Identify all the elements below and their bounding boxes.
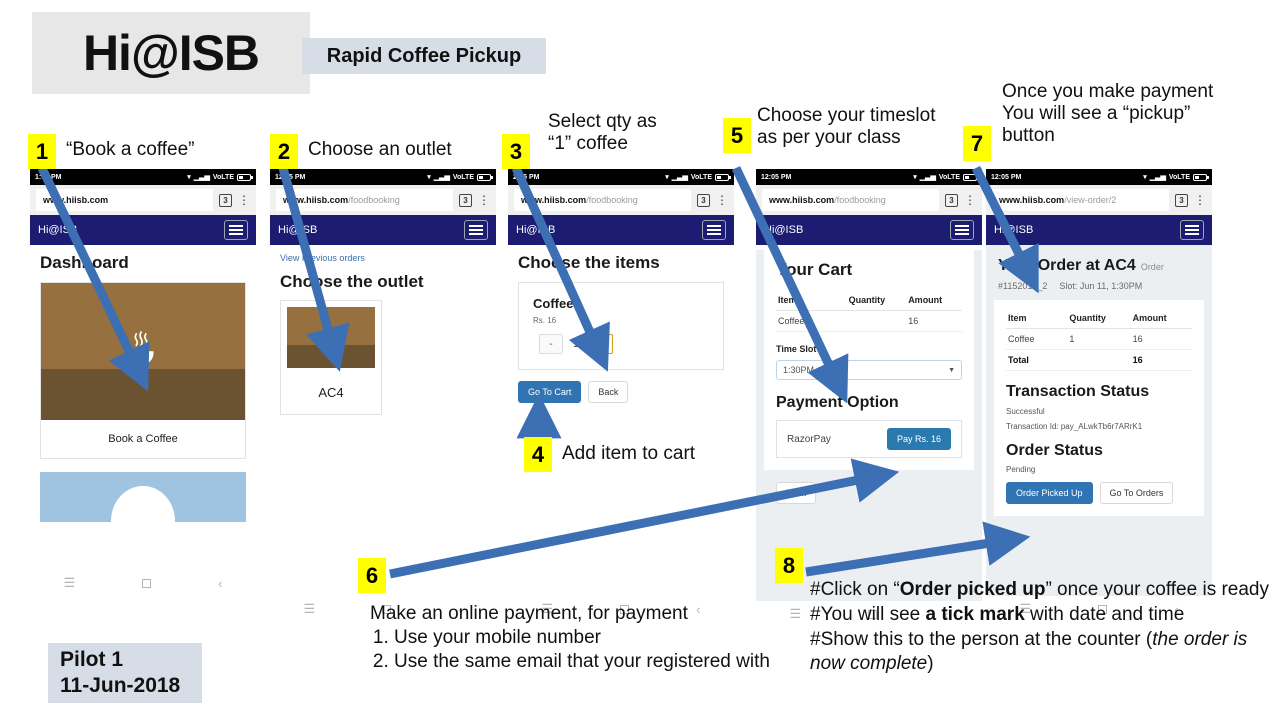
network-label: VoLTE xyxy=(691,174,712,181)
col-amount: Amount xyxy=(1131,308,1192,329)
url-domain: www.hiisb.com xyxy=(999,195,1064,205)
browser-bar: www.hiisb.com/foodbooking 3 ⋮ xyxy=(508,185,734,215)
wifi-icon: ▾ xyxy=(427,173,431,181)
back-button[interactable]: Back xyxy=(776,482,816,504)
url-path: /foodbooking xyxy=(348,195,400,205)
step-label-4: Add item to cart xyxy=(562,443,695,465)
step-label-2: Choose an outlet xyxy=(308,139,452,161)
battery-icon xyxy=(1193,174,1207,181)
step-label-7: Once you make payment You will see a “pi… xyxy=(1002,81,1213,147)
app-navbar: Hi@ISB xyxy=(270,215,496,245)
status-time: 12:05 PM xyxy=(761,174,791,181)
dashboard-screen: Dashboard Book a Coffee xyxy=(30,245,256,570)
signal-icon: ▁▃▅ xyxy=(672,173,688,181)
status-bar: 12:05 PM ▾ ▁▃▅ VoLTE xyxy=(756,169,982,185)
outlet-name: AC4 xyxy=(281,374,381,414)
hamburger-menu-icon[interactable] xyxy=(1180,220,1204,240)
phone-screenshot-items: 2:05 PM ▾ ▁▃▅ VoLTE www.hiisb.com/foodbo… xyxy=(508,169,734,622)
step-8-line-2: #You will see a tick mark with date and … xyxy=(810,603,1276,626)
app-brand: Hi@ISB xyxy=(764,224,803,236)
browser-bar: www.hiisb.com 3 ⋮ xyxy=(30,185,256,215)
url-path: /foodbooking xyxy=(586,195,638,205)
app-navbar: Hi@ISB xyxy=(508,215,734,245)
signal-icon: ▁▃▅ xyxy=(434,173,450,181)
s8-l1b: Order picked up xyxy=(900,579,1046,600)
app-brand: Hi@ISB xyxy=(516,224,555,236)
step-badge-3: 3 xyxy=(502,134,530,169)
col-amount: Amount xyxy=(906,290,962,311)
hamburger-menu-icon[interactable] xyxy=(464,220,488,240)
coffee-cup-icon xyxy=(41,325,245,371)
app-navbar: Hi@ISB xyxy=(756,215,982,245)
app-brand: Hi@ISB xyxy=(38,224,77,236)
back-button[interactable]: Back xyxy=(588,381,628,403)
s8-l3a: #Show this to the person at the counter … xyxy=(810,629,1152,650)
step-6-item-1: Use your mobile number xyxy=(394,626,770,649)
status-time: 2:05 PM xyxy=(513,174,539,181)
outlet-card-image xyxy=(287,307,375,368)
url-domain: www.hiisb.com xyxy=(521,195,586,205)
order-status-heading: Order Status xyxy=(1006,442,1192,460)
step-badge-2: 2 xyxy=(270,134,298,169)
url-input[interactable]: www.hiisb.com/foodbooking xyxy=(276,189,453,211)
chevron-down-icon: ▼ xyxy=(948,367,955,374)
required-asterisk: * xyxy=(816,344,820,354)
order-id: #1152018_2 xyxy=(998,281,1047,291)
tab-count-button[interactable]: 3 xyxy=(459,194,472,207)
signal-icon: ▁▃▅ xyxy=(194,173,210,181)
order-header: Your Order at AC4 Order #1152018_2 Slot:… xyxy=(986,245,1212,300)
step-badge-7: 7 xyxy=(963,126,991,161)
total-label: Total xyxy=(1006,350,1067,371)
battery-icon xyxy=(477,174,491,181)
cell-amount: 16 xyxy=(906,311,962,332)
app-title-band: Hi@ISB xyxy=(32,12,310,94)
quantity-decrease-button[interactable]: - xyxy=(539,334,563,354)
step-badge-1: 1 xyxy=(28,134,56,169)
cart-table: Item Quantity Amount Coffee 16 xyxy=(776,290,962,332)
order-slot: Slot: Jun 11, 1:30PM xyxy=(1059,281,1142,291)
browser-bar: www.hiisb.com/view-order/2 3 ⋮ xyxy=(986,185,1212,215)
item-name: Coffee xyxy=(533,296,709,311)
quantity-increase-button[interactable]: + xyxy=(589,334,613,354)
view-previous-orders-link[interactable]: View Previous orders xyxy=(280,253,486,263)
pay-button[interactable]: Pay Rs. 16 xyxy=(887,428,951,450)
browser-menu-icon[interactable]: ⋮ xyxy=(964,194,976,206)
s8-l1c: ” once your coffee is ready xyxy=(1045,579,1269,600)
recents-icon[interactable]: ☰ xyxy=(64,575,76,591)
recents-icon[interactable]: ☰ xyxy=(304,601,316,617)
back-icon[interactable]: ‹ xyxy=(218,576,222,591)
order-table: Item Quantity Amount Coffee 1 16 Total 1… xyxy=(1006,308,1192,371)
second-card[interactable] xyxy=(40,472,246,522)
home-icon[interactable] xyxy=(142,579,151,588)
app-subtitle-band: Rapid Coffee Pickup xyxy=(302,38,546,74)
step-label-5: Choose your timeslot as per your class xyxy=(757,105,935,149)
outlets-screen: View Previous orders Choose the outlet A… xyxy=(270,245,496,596)
step-badge-6: 6 xyxy=(358,558,386,593)
url-domain: www.hiisb.com xyxy=(283,195,348,205)
url-input[interactable]: www.hiisb.com/foodbooking xyxy=(762,189,939,211)
s8-l1a: #Click on “ xyxy=(810,579,900,600)
url-input[interactable]: www.hiisb.com/view-order/2 xyxy=(992,189,1169,211)
payment-option-row: RazorPay Pay Rs. 16 xyxy=(776,420,962,458)
payment-heading: Payment Option xyxy=(776,394,962,412)
url-input[interactable]: www.hiisb.com/foodbooking xyxy=(514,189,691,211)
pilot-line-1: Pilot 1 xyxy=(60,647,123,673)
coffee-card-image xyxy=(41,283,245,420)
dashboard-heading: Dashboard xyxy=(40,253,246,273)
signal-icon: ▁▃▅ xyxy=(920,173,936,181)
page-subtitle: Rapid Coffee Pickup xyxy=(327,45,521,68)
url-path: /view-order/2 xyxy=(1064,195,1116,205)
recents-icon[interactable]: ☰ xyxy=(790,606,802,622)
hamburger-menu-icon[interactable] xyxy=(950,220,974,240)
order-status-value: Pending xyxy=(1006,465,1192,474)
tab-count-button[interactable]: 3 xyxy=(697,194,710,207)
cell-item: Coffee xyxy=(1006,329,1067,350)
book-coffee-card[interactable]: Book a Coffee xyxy=(40,282,246,459)
quantity-value: 1 xyxy=(573,339,579,350)
hamburger-menu-icon[interactable] xyxy=(224,220,248,240)
phone-screenshot-order: 12:05 PM ▾ ▁▃▅ VoLTE www.hiisb.com/view-… xyxy=(986,169,1212,622)
battery-icon xyxy=(715,174,729,181)
payment-gateway-name: RazorPay xyxy=(787,434,831,445)
order-actions: Order Picked Up Go To Orders xyxy=(1006,482,1192,504)
status-time: 1:05 PM xyxy=(35,174,61,181)
url-domain: www.hiisb.com xyxy=(43,195,108,205)
step-6-item-2: Use the same email that your registered … xyxy=(394,650,770,673)
url-path: /foodbooking xyxy=(834,195,886,205)
network-label: VoLTE xyxy=(453,174,474,181)
total-value: 16 xyxy=(1131,350,1192,371)
app-brand: Hi@ISB xyxy=(278,224,317,236)
table-header-row: Item Quantity Amount xyxy=(1006,308,1192,329)
network-label: VoLTE xyxy=(213,174,234,181)
status-bar: 12:05 PM ▾ ▁▃▅ VoLTE xyxy=(986,169,1212,185)
status-bar: 1:05 PM ▾ ▁▃▅ VoLTE xyxy=(30,169,256,185)
browser-menu-icon[interactable]: ⋮ xyxy=(716,194,728,206)
cell-amount: 16 xyxy=(1131,329,1192,350)
signal-icon: ▁▃▅ xyxy=(1150,173,1166,181)
cell-item: Coffee xyxy=(776,311,847,332)
step-label-1: “Book a coffee” xyxy=(66,139,195,161)
status-time: 12:05 PM xyxy=(991,174,1021,181)
order-screen: Your Order at AC4 Order #1152018_2 Slot:… xyxy=(986,245,1212,596)
cell-quantity: 1 xyxy=(1067,329,1130,350)
order-panel: Item Quantity Amount Coffee 1 16 Total 1… xyxy=(994,300,1204,516)
hamburger-menu-icon[interactable] xyxy=(702,220,726,240)
network-label: VoLTE xyxy=(1169,174,1190,181)
browser-menu-icon[interactable]: ⋮ xyxy=(1194,194,1206,206)
time-slot-label-text: Time Slot xyxy=(776,344,816,354)
items-actions: Go To Cart Back xyxy=(518,381,724,403)
status-bar: 12:05 PM ▾ ▁▃▅ VoLTE xyxy=(270,169,496,185)
item-price: Rs. 16 xyxy=(533,316,709,325)
items-heading: Choose the items xyxy=(518,253,724,273)
order-heading: Your Order at AC4 xyxy=(998,257,1136,275)
cart-panel: Your Cart Item Quantity Amount Coffee 16… xyxy=(764,250,974,470)
table-row: Coffee 16 xyxy=(776,311,962,332)
app-navbar: Hi@ISB xyxy=(30,215,256,245)
pilot-badge: Pilot 1 11-Jun-2018 xyxy=(48,643,202,703)
tab-count-button[interactable]: 3 xyxy=(945,194,958,207)
cell-quantity xyxy=(847,311,907,332)
item-card-coffee: Coffee Rs. 16 - 1 + xyxy=(518,282,724,370)
order-heading-suffix: Order xyxy=(1141,262,1164,272)
s8-l2c: with date and time xyxy=(1025,604,1184,625)
app-navbar: Hi@ISB xyxy=(986,215,1212,245)
col-quantity: Quantity xyxy=(1067,308,1130,329)
step-6-note: Make an online payment, for payment Use … xyxy=(370,602,770,674)
table-header-row: Item Quantity Amount xyxy=(776,290,962,311)
coffee-cup-icon xyxy=(287,324,375,348)
pilot-line-2: 11-Jun-2018 xyxy=(60,673,180,699)
status-time: 12:05 PM xyxy=(275,174,305,181)
wifi-icon: ▾ xyxy=(1143,173,1147,181)
second-card-image xyxy=(40,472,246,522)
tab-count-button[interactable]: 3 xyxy=(219,194,232,207)
cart-footer: Back xyxy=(756,470,982,516)
quantity-stepper: - 1 + xyxy=(533,334,709,354)
url-domain: www.hiisb.com xyxy=(769,195,834,205)
cart-heading: Your Cart xyxy=(776,260,962,280)
step-badge-4: 4 xyxy=(524,437,552,472)
browser-bar: www.hiisb.com/foodbooking 3 ⋮ xyxy=(756,185,982,215)
time-slot-select[interactable]: 1:30PM ▼ xyxy=(776,360,962,380)
wifi-icon: ▾ xyxy=(665,173,669,181)
status-bar: 2:05 PM ▾ ▁▃▅ VoLTE xyxy=(508,169,734,185)
go-to-orders-button[interactable]: Go To Orders xyxy=(1100,482,1174,504)
wifi-icon: ▾ xyxy=(913,173,917,181)
tab-count-button[interactable]: 3 xyxy=(1175,194,1188,207)
browser-menu-icon[interactable]: ⋮ xyxy=(478,194,490,206)
transaction-status-value: Successful xyxy=(1006,407,1192,416)
step-badge-5: 5 xyxy=(723,118,751,153)
s8-l2b: a tick mark xyxy=(925,604,1024,625)
book-coffee-caption: Book a Coffee xyxy=(41,420,245,458)
browser-menu-icon[interactable]: ⋮ xyxy=(238,194,250,206)
step-6-lead: Make an online payment, for payment xyxy=(370,602,770,625)
browser-bar: www.hiisb.com/foodbooking 3 ⋮ xyxy=(270,185,496,215)
step-badge-8: 8 xyxy=(775,548,803,583)
table-total-row: Total 16 xyxy=(1006,350,1192,371)
order-picked-up-button[interactable]: Order Picked Up xyxy=(1006,482,1093,504)
app-brand: Hi@ISB xyxy=(994,224,1033,236)
outlet-card-ac4[interactable]: AC4 xyxy=(280,300,382,415)
battery-icon xyxy=(963,174,977,181)
android-nav-bar: ☰ ‹ xyxy=(30,570,256,596)
step-8-line-1: #Click on “Order picked up” once your co… xyxy=(810,578,1276,601)
transaction-id: Transaction Id: pay_ALwkTb6r7ARrK1 xyxy=(1006,422,1192,431)
url-input[interactable]: www.hiisb.com xyxy=(36,189,213,211)
col-item: Item xyxy=(1006,308,1067,329)
battery-icon xyxy=(237,174,251,181)
s8-l2a: #You will see xyxy=(810,604,925,625)
step-label-3: Select qty as “1” coffee xyxy=(548,111,657,155)
s8-l3c: ) xyxy=(927,653,933,674)
table-row: Coffee 1 16 xyxy=(1006,329,1192,350)
phone-screenshot-dashboard: 1:05 PM ▾ ▁▃▅ VoLTE www.hiisb.com 3 ⋮ Hi… xyxy=(30,169,256,596)
go-to-cart-button[interactable]: Go To Cart xyxy=(518,381,581,403)
transaction-status-heading: Transaction Status xyxy=(1006,383,1192,401)
network-label: VoLTE xyxy=(939,174,960,181)
step-8-line-3: #Show this to the person at the counter … xyxy=(810,628,1276,674)
items-screen: Choose the items Coffee Rs. 16 - 1 + Go … xyxy=(508,245,734,596)
phone-screenshot-outlets: 12:05 PM ▾ ▁▃▅ VoLTE www.hiisb.com/foodb… xyxy=(270,169,496,622)
outlets-heading: Choose the outlet xyxy=(280,272,486,292)
step-8-note: #Click on “Order picked up” once your co… xyxy=(810,578,1276,675)
wifi-icon: ▾ xyxy=(187,173,191,181)
time-slot-label: Time Slot* xyxy=(776,344,962,354)
page-title: Hi@ISB xyxy=(83,28,259,78)
time-slot-value: 1:30PM xyxy=(783,365,814,375)
col-item: Item xyxy=(776,290,847,311)
col-quantity: Quantity xyxy=(847,290,907,311)
